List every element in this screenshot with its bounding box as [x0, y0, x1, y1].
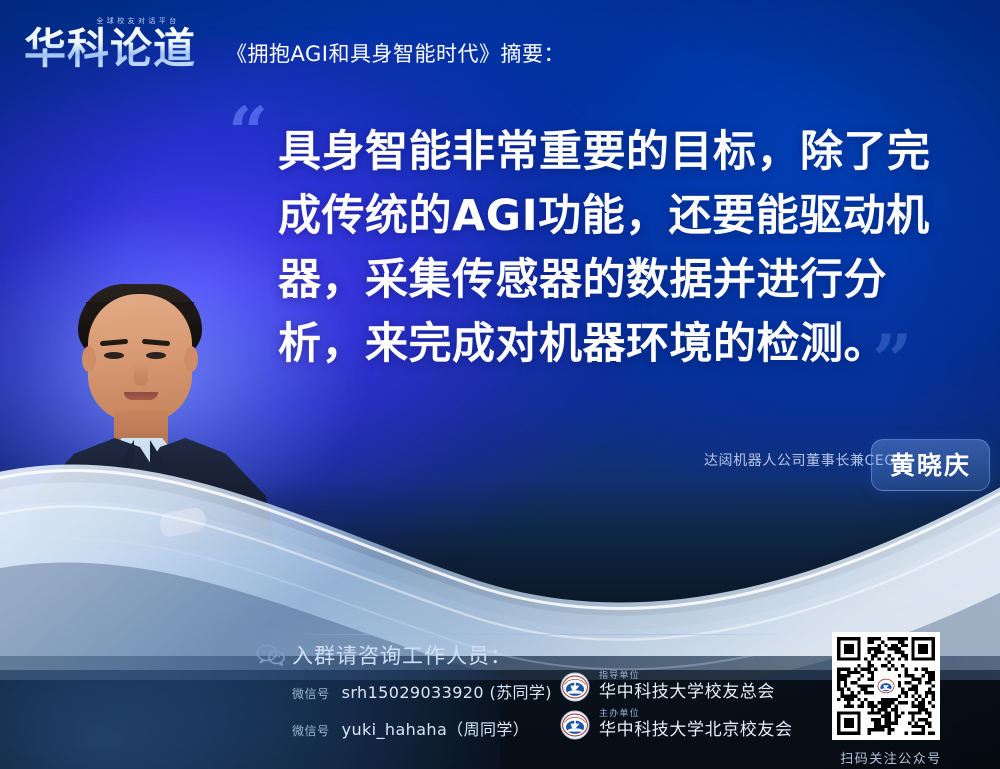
qr-code-icon[interactable] [832, 632, 940, 740]
organization-kind: 指导单位 [599, 672, 775, 681]
brand-logo[interactable]: 全球校友对话平台 华科论道 [24, 14, 220, 76]
page-title: 《拥抱AGI和具身智能时代》摘要： [226, 38, 565, 68]
organization-guiding: 指导单位 华中科技大学校友总会 [560, 672, 775, 702]
speaker-name-badge: 黄晓庆 [871, 439, 990, 491]
hust-seal-icon [560, 672, 590, 702]
poster-root: 全球校友对话平台 华科论道 《拥抱AGI和具身智能时代》摘要： “ ” 具身智能… [0, 0, 1000, 769]
wechat-icon [256, 643, 286, 667]
portrait-ear-right [184, 346, 198, 372]
contact-value: yuki_hahaha（周同学） [342, 720, 530, 739]
hust-seal-icon [560, 710, 590, 740]
qr-center-logo [875, 675, 897, 697]
organization-host: 主办单位 华中科技大学北京校友会 [560, 710, 793, 740]
contact-title: 入群请咨询工作人员： [292, 640, 512, 670]
contact-row-1: 微信号 srh15029033920 (苏同学) [292, 679, 552, 703]
footer-divider [285, 634, 790, 635]
quote-line: 具身智能非常重要的目标，除了完 [278, 120, 938, 184]
contact-row-2: 微信号 yuki_hahaha（周同学） [292, 716, 529, 740]
contact-label: 微信号 [292, 687, 330, 701]
speaker-portrait [18, 288, 280, 550]
portrait-eye-left [104, 352, 124, 359]
brand-logo-title: 华科论道 [24, 25, 220, 73]
portrait-face [88, 294, 192, 422]
portrait-eye-right [146, 352, 166, 359]
quote-line: 器，采集传感器的数据并进行分 [278, 248, 938, 312]
quote-line: 析，来完成对机器环境的检测。 [278, 312, 938, 376]
quote-open-mark: “ [228, 98, 268, 168]
contact-value: srh15029033920 (苏同学) [342, 683, 552, 702]
quote-line: 成传统的AGI功能，还要能驱动机 [278, 184, 938, 248]
organization-name: 华中科技大学北京校友会 [599, 722, 793, 740]
portrait-nose [134, 362, 148, 386]
header: 全球校友对话平台 华科论道 《拥抱AGI和具身智能时代》摘要： [0, 0, 1000, 92]
qr-caption: 扫码关注公众号 [832, 748, 950, 767]
organization-name: 华中科技大学校友总会 [599, 684, 775, 702]
contact-label: 微信号 [292, 724, 330, 738]
portrait-ear-left [82, 346, 96, 372]
quote-text: 具身智能非常重要的目标，除了完 成传统的AGI功能，还要能驱动机 器，采集传感器… [278, 120, 938, 376]
speaker-role: 达闼机器人公司董事长兼CEO [704, 450, 896, 470]
organization-kind: 主办单位 [599, 710, 793, 719]
portrait-mouth [124, 392, 158, 400]
qr-section: 扫码关注公众号 [832, 632, 950, 767]
portrait-crossed-arms [64, 502, 240, 550]
